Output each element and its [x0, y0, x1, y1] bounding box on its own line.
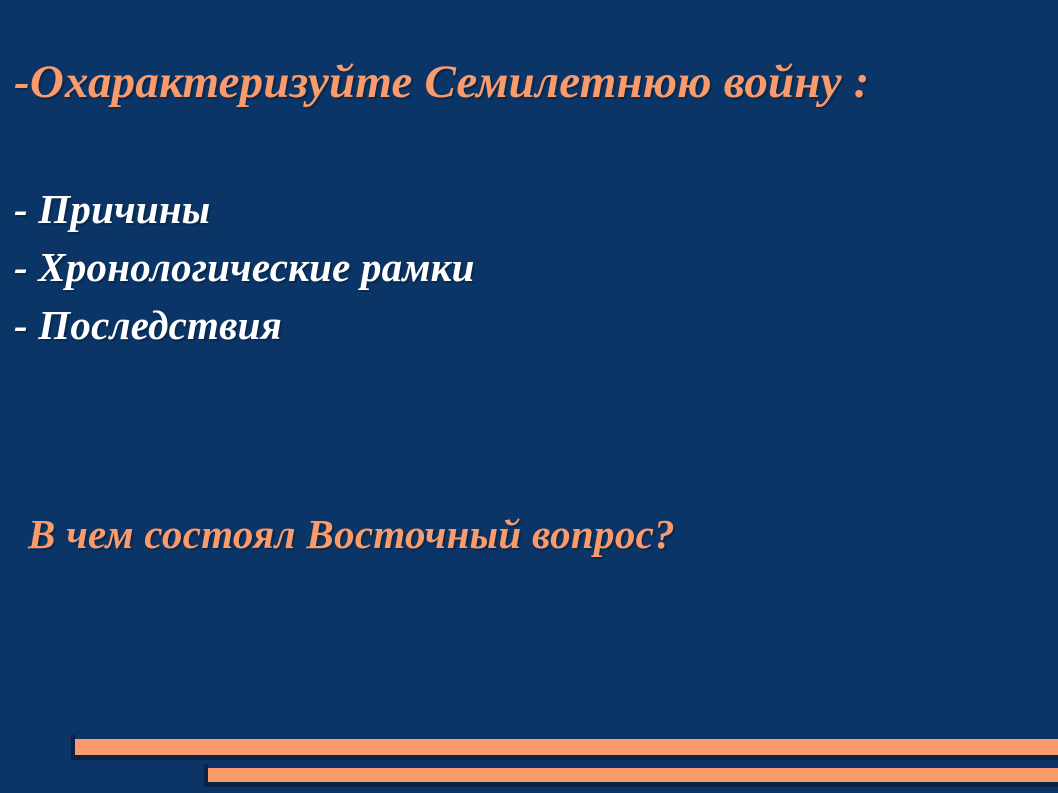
decorative-bar-upper-shadow: [71, 755, 1058, 760]
decorative-bar-upper: [75, 739, 1058, 755]
decorative-bar-lower-shadow: [204, 782, 1058, 787]
list-item: - Причины: [14, 180, 1034, 238]
presentation-slide: -Охарактеризуйте Семилетнюю войну : - Пр…: [0, 0, 1058, 793]
list-item: - Последствия: [14, 296, 1034, 354]
slide-title: -Охарактеризуйте Семилетнюю войну :: [14, 54, 1034, 111]
list-item: - Хронологические рамки: [14, 238, 1034, 296]
bullet-list: - Причины - Хронологические рамки - Посл…: [14, 180, 1034, 354]
decorative-bar-lower: [208, 768, 1058, 782]
question-text: В чем состоял Восточный вопрос?: [28, 508, 675, 560]
